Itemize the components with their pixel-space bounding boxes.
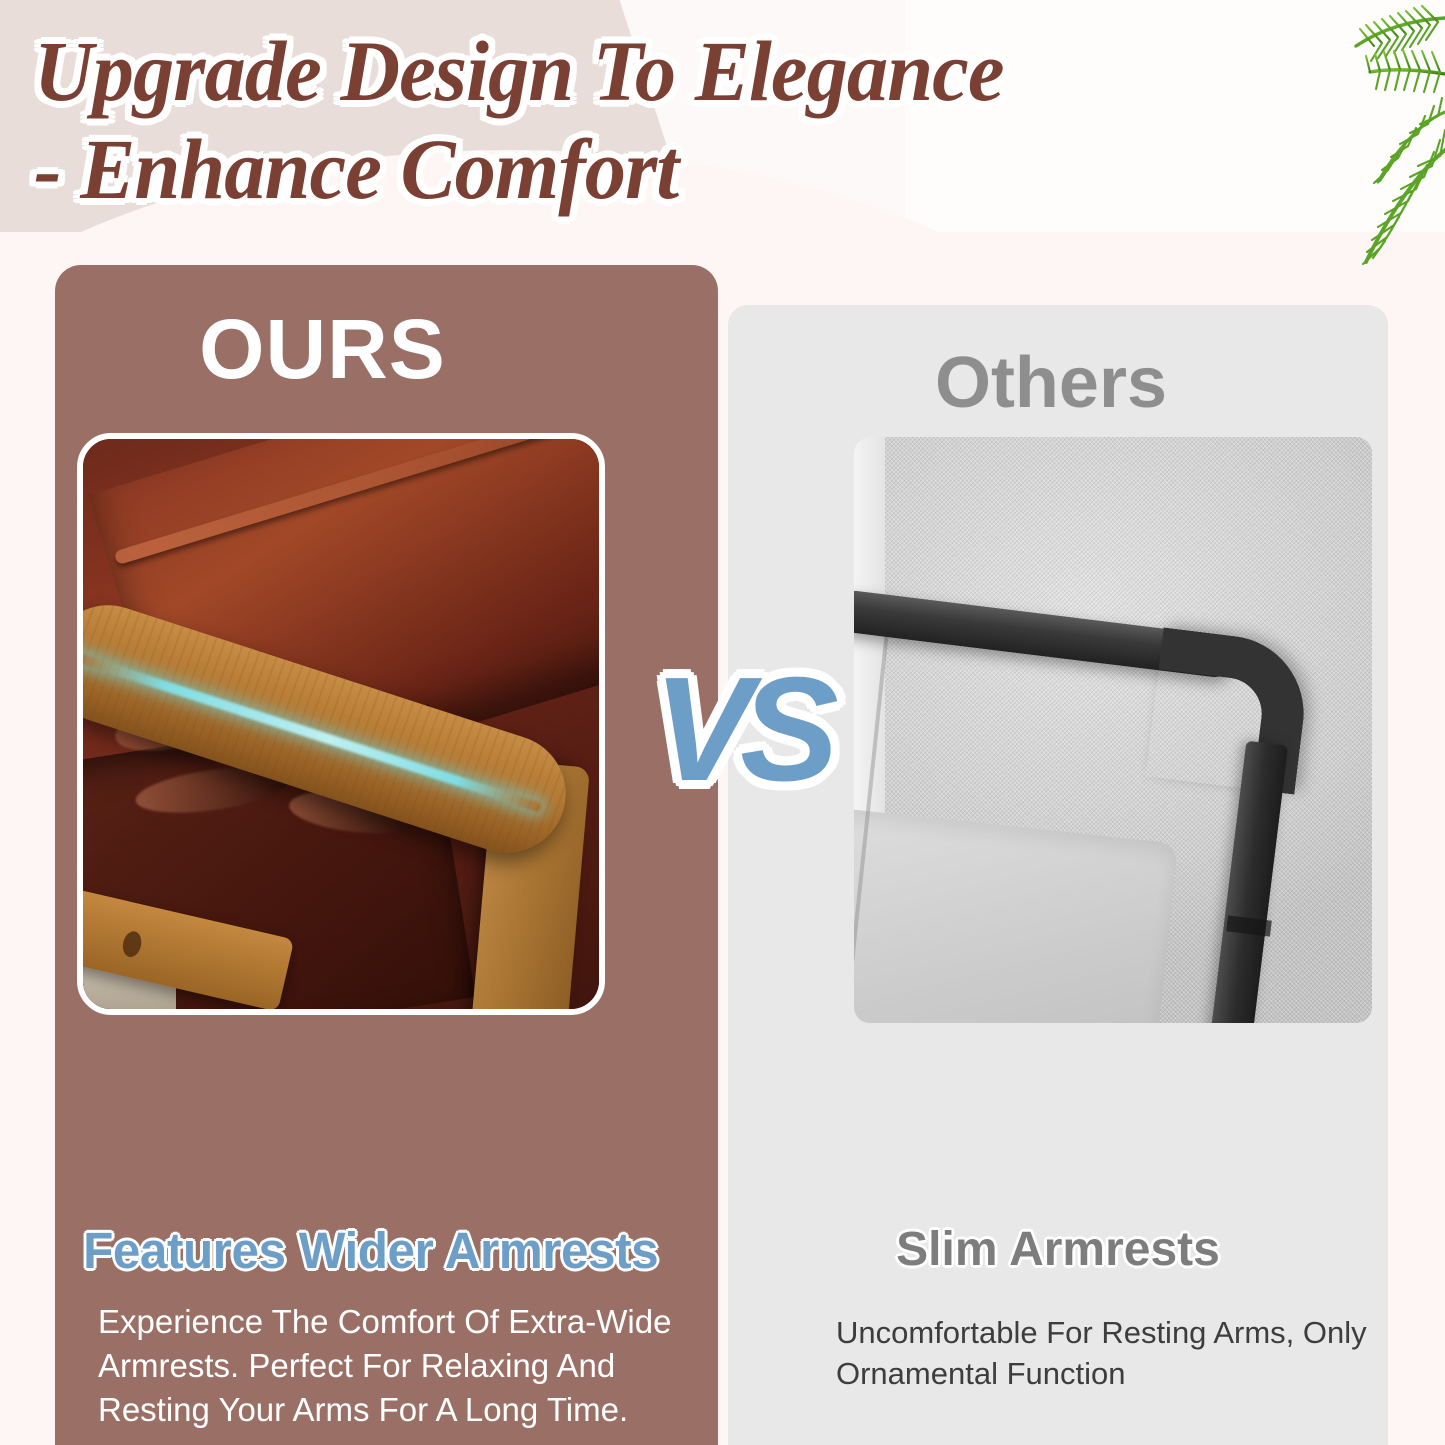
description-ours: Experience The Comfort Of Extra-Wide Arm… — [98, 1300, 698, 1432]
rail-knob — [121, 930, 144, 959]
feature-label-others: Slim Armrests — [728, 1222, 1388, 1278]
leather-sofa-illustration — [83, 439, 599, 1009]
description-others: Uncomfortable For Resting Arms, Only Orn… — [836, 1312, 1376, 1394]
panel-heading-ours: OURS — [55, 303, 718, 395]
title-line-1: Upgrade Design To Elegance — [34, 22, 1244, 120]
fabric-chair-illustration — [854, 437, 1372, 1023]
product-photo-others — [854, 437, 1372, 1023]
infographic-canvas: Upgrade Design To Elegance - Enhance Com… — [0, 0, 1445, 1445]
title-line-2: - Enhance Comfort — [34, 120, 1244, 218]
versus-label: VS — [653, 656, 826, 804]
panel-heading-others: Others — [728, 343, 1388, 423]
versus-badge: VS — [640, 640, 840, 820]
feature-label-ours: Features Wider Armrests — [11, 1222, 707, 1280]
page-title: Upgrade Design To Elegance - Enhance Com… — [34, 22, 1294, 218]
product-photo-ours — [77, 433, 605, 1015]
fabric-seat-cushion — [854, 806, 1178, 1023]
